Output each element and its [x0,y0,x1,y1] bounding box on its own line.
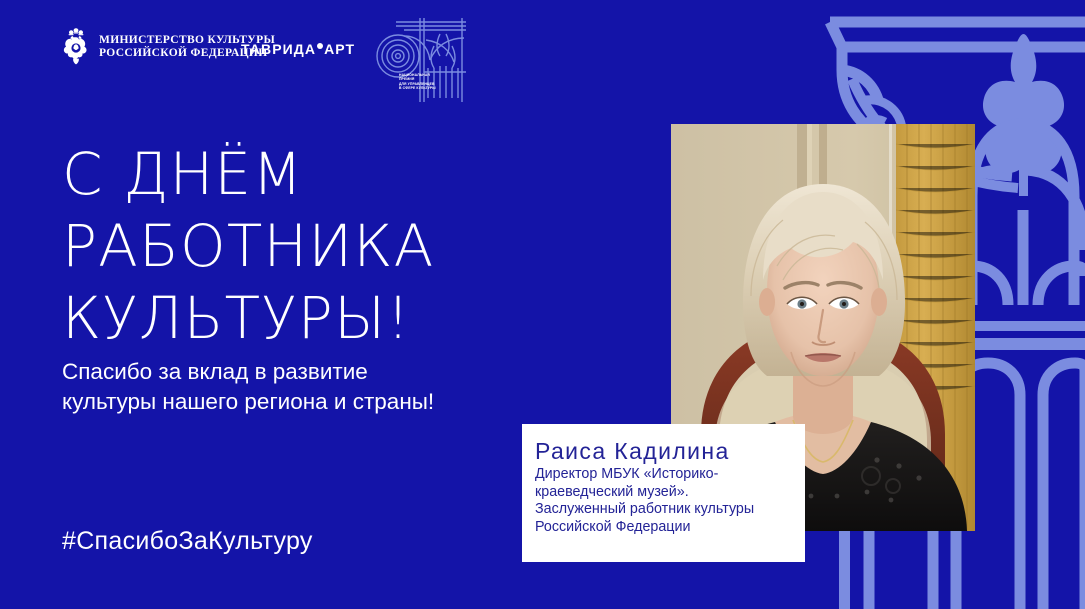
name-card: Раиса Кадилина Директор МБУК «Историко- … [522,424,805,562]
tavrida-art-word: АРТ [324,41,355,57]
tavrida-word: ТАВРИДА [241,41,316,57]
logo-bar: Министерство культуры Российской Федерац… [0,0,1085,115]
person-name: Раиса Кадилина [535,438,805,465]
hashtag: #СпасибоЗаКультуру [62,527,313,556]
russian-coat-of-arms-eagle-icon [62,28,90,66]
person-role-line-4: Российской Федерации [535,519,805,537]
subtitle-line-2: культуры нашего региона и страны! [62,387,434,417]
tavrida-dot-icon [317,43,323,49]
subtitle-line-1: Спасибо за вклад в развитие [62,357,434,387]
headline-line-2: Работника [62,210,434,282]
person-role-line-3: Заслуженный работник культуры [535,501,805,519]
national-prize-logo [374,16,468,108]
tavrida-art-logo: ТАВРИДА АРТ [241,41,355,57]
person-role-line-1: Директор МБУК «Историко- [535,466,805,484]
headline-line-1: С Днём [62,138,434,210]
headline-line-3: Культуры! [62,282,434,354]
person-role: Директор МБУК «Историко- краеведческий м… [535,466,805,536]
headline: С Днём Работника Культуры! [62,138,434,354]
person-role-line-2: краеведческий музей». [535,484,805,502]
prize-caption-line-4: в сфере культуры [399,86,461,90]
subtitle: Спасибо за вклад в развитие культуры наш… [62,357,434,417]
national-prize-caption: Национальная премия для управленцев в сф… [399,73,461,91]
poster-canvas: Министерство культуры Российской Федерац… [0,0,1085,609]
